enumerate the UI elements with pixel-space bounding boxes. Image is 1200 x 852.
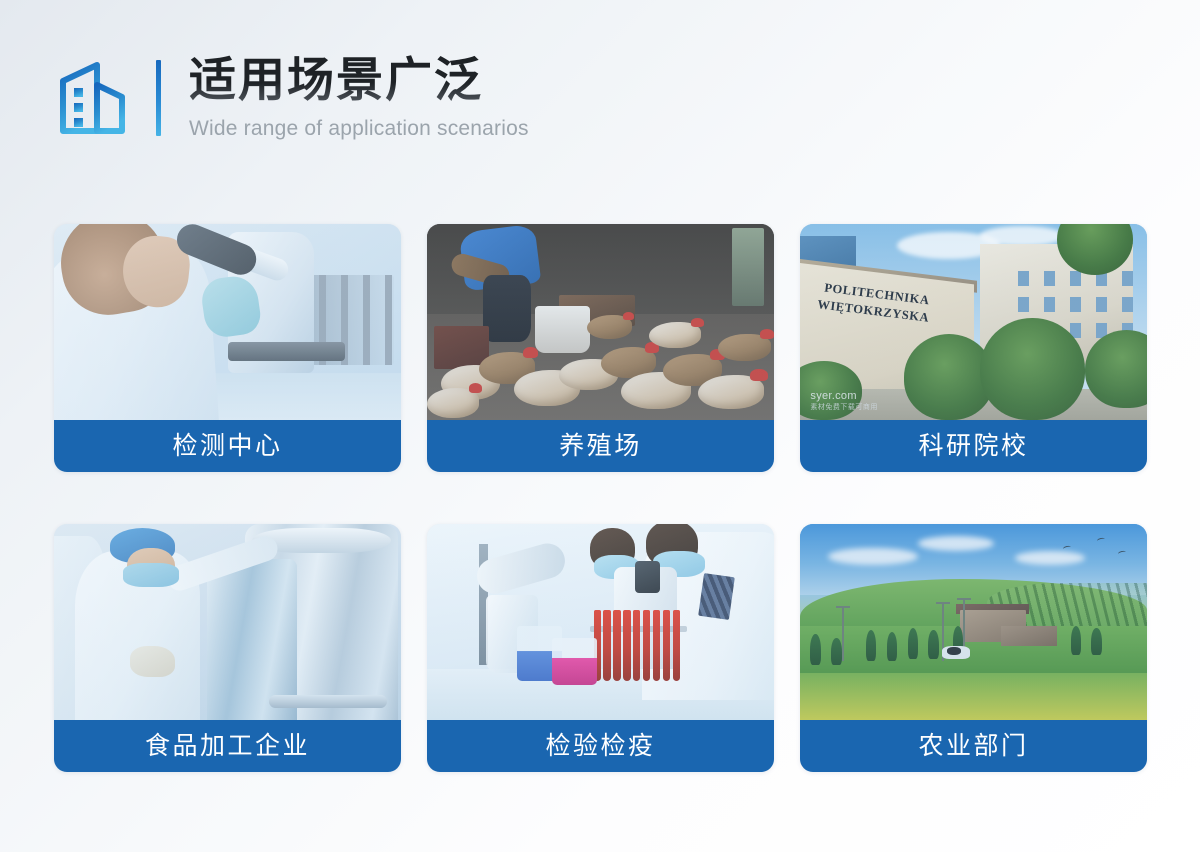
header-divider (156, 60, 161, 136)
card-photo-microscope-laboratory (54, 224, 401, 420)
card-label: 检验检疫 (545, 734, 655, 759)
card-label: 养殖场 (559, 434, 642, 459)
page-subtitle: Wide range of application scenarios (189, 116, 529, 141)
scenario-card-inspection-quarantine[interactable]: 检验检疫 (427, 524, 774, 772)
card-photo-food-processing-plant (54, 524, 401, 720)
scenario-card-grid: 检测中心 (54, 224, 1146, 772)
card-footer-bar: 科研院校 (800, 420, 1147, 472)
page-title: 适用场景广泛 (189, 54, 529, 109)
card-label: 检测中心 (172, 434, 282, 459)
card-footer-bar: 检测中心 (54, 420, 401, 472)
scenario-card-agriculture-department[interactable]: 农业部门 (800, 524, 1147, 772)
scenario-card-research-institutes[interactable]: POLITECHNIKA WIĘTOKRZYSKA syer.com 素材免费下… (800, 224, 1147, 472)
card-photo-farmland-countryside (800, 524, 1147, 720)
card-photo-poultry-farm (427, 224, 774, 420)
section-header: 适用场景广泛 Wide range of application scenari… (54, 54, 529, 142)
card-label: 食品加工企业 (145, 734, 310, 759)
card-photo-university-campus: POLITECHNIKA WIĘTOKRZYSKA syer.com 素材免费下… (800, 224, 1147, 420)
scenario-card-breeding-farm[interactable]: 养殖场 (427, 224, 774, 472)
card-footer-bar: 农业部门 (800, 720, 1147, 772)
card-footer-bar: 检验检疫 (427, 720, 774, 772)
scenario-card-detection-center[interactable]: 检测中心 (54, 224, 401, 472)
scenario-card-food-processing[interactable]: 食品加工企业 (54, 524, 401, 772)
building-icon (54, 58, 132, 138)
card-footer-bar: 养殖场 (427, 420, 774, 472)
card-label: 农业部门 (918, 734, 1028, 759)
card-footer-bar: 食品加工企业 (54, 720, 401, 772)
card-label: 科研院校 (918, 434, 1028, 459)
card-photo-inspection-quarantine-lab (427, 524, 774, 720)
header-text-block: 适用场景广泛 Wide range of application scenari… (189, 54, 529, 142)
